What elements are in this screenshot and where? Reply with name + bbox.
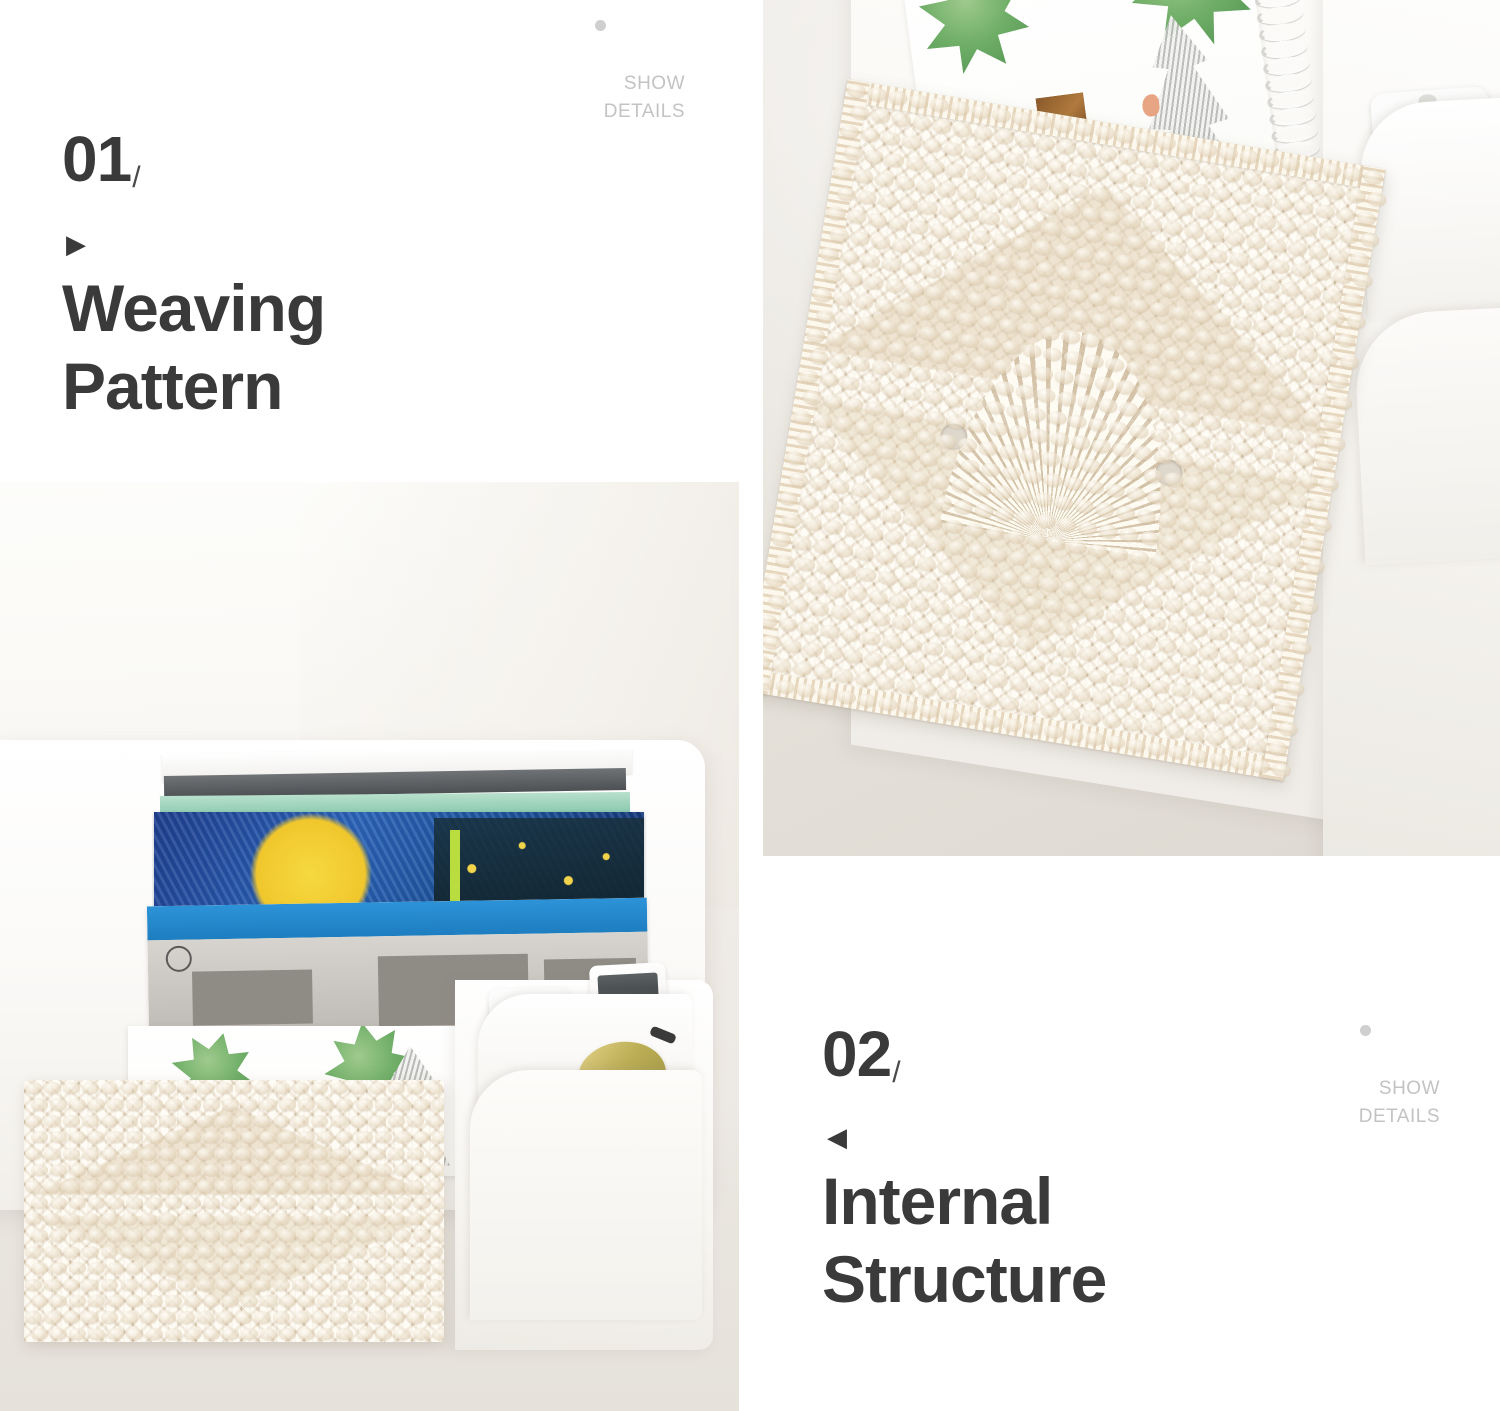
macrame-knot [50, 1197, 67, 1209]
macrame-knot [222, 1197, 239, 1209]
macrame-knot [350, 1279, 367, 1291]
macrame-knot [413, 1328, 430, 1340]
weaving-pattern-photo [763, 0, 1500, 856]
macrame-knot [394, 1164, 411, 1176]
macrame-knot [407, 1311, 424, 1323]
macrame-knot [388, 1279, 405, 1291]
macrame-knot [121, 1115, 138, 1127]
macrame-knot [235, 1180, 252, 1192]
macrame-knot [279, 1229, 296, 1241]
section-02-title: Internal Structure [822, 1163, 1342, 1319]
macrame-knot [82, 1311, 99, 1323]
macrame-knot [407, 1246, 424, 1258]
macrame-knot [203, 1164, 220, 1176]
macrame-knot [331, 1148, 348, 1160]
macrame-knot [69, 1197, 86, 1209]
macrame-knot [101, 1279, 118, 1291]
macrame-knot [298, 1229, 315, 1241]
macrame-knot [331, 1213, 348, 1225]
macrame-knot [216, 1246, 233, 1258]
macrame-knot [222, 1328, 239, 1340]
macrame-knot [197, 1115, 214, 1127]
macrame-knot [356, 1197, 373, 1209]
macrame-knot [184, 1164, 201, 1176]
macrame-knot [216, 1148, 233, 1160]
macrame-knot [413, 1197, 430, 1209]
macrame-knot [101, 1311, 118, 1323]
macrame-knot [356, 1328, 373, 1340]
macrame-knot [279, 1098, 296, 1110]
macrame-knot [388, 1246, 405, 1258]
macrame-knot [159, 1082, 176, 1094]
macrame-knot [44, 1180, 61, 1192]
macrame-knot [126, 1098, 143, 1110]
macrame-knot [101, 1148, 118, 1160]
macrame-knot [222, 1164, 239, 1176]
macrame-knot [394, 1328, 411, 1340]
show-details-dot-icon-01 [595, 20, 606, 31]
macrame-knot [356, 1164, 373, 1176]
macrame-knot [254, 1279, 271, 1291]
macrame-knot [331, 1246, 348, 1258]
macrame-knot [146, 1229, 163, 1241]
macrame-knot [25, 1115, 42, 1127]
macrame-knot [82, 1180, 99, 1192]
macrame-knot [432, 1197, 444, 1209]
macrame-knot [356, 1295, 373, 1307]
macrame-knot [369, 1082, 386, 1094]
macrame-knot [375, 1164, 392, 1176]
macrame-knot [25, 1246, 42, 1258]
macrame-knot [31, 1197, 48, 1209]
macrame-knot [356, 1131, 373, 1143]
section-01-separator: / [132, 161, 139, 194]
macrame-knot [273, 1180, 290, 1192]
macrame-knot [235, 1115, 252, 1127]
macrame-knot [413, 1164, 430, 1176]
book-spine-accent [450, 830, 460, 906]
macrame-knot [254, 1148, 271, 1160]
show-details-line2-02: DETAILS [1225, 1103, 1440, 1131]
macrame-knot [44, 1115, 61, 1127]
show-details-dot-icon-02 [1360, 1025, 1371, 1036]
macrame-knot [241, 1295, 258, 1307]
infographic-page: 01/ ▶ Weaving Pattern SHOW DETAILS 02/ ◀… [0, 0, 1500, 1411]
macrame-knot [69, 1098, 86, 1110]
macrame-knot [273, 1148, 290, 1160]
macrame-knot [375, 1328, 392, 1340]
macrame-knot [331, 1279, 348, 1291]
book-cover-art [434, 818, 644, 910]
macrame-knot [331, 1180, 348, 1192]
macrame-knot [184, 1197, 201, 1209]
macrame-knot [426, 1148, 443, 1160]
macrame-knot [146, 1262, 163, 1274]
macrame-knot [298, 1328, 315, 1340]
macrame-knot [273, 1311, 290, 1323]
macrame-knot [178, 1148, 195, 1160]
macrame-knot [178, 1082, 195, 1094]
macrame-knot [88, 1229, 105, 1241]
macrame-knot [25, 1148, 42, 1160]
section-02-title-line1: Internal [822, 1163, 1342, 1241]
macrame-knot [350, 1213, 367, 1225]
macrame-knot [31, 1098, 48, 1110]
macrame-knot [369, 1279, 386, 1291]
macrame-knot [292, 1180, 309, 1192]
macrame-knot [222, 1229, 239, 1241]
macrame-knot [63, 1311, 80, 1323]
macrame-knot [254, 1311, 271, 1323]
section-01-title: Weaving Pattern [62, 270, 482, 426]
macrame-knot [298, 1098, 315, 1110]
macrame-knot [146, 1164, 163, 1176]
macrame-knot [121, 1180, 138, 1192]
macrame-knot [63, 1180, 80, 1192]
macrame-knot [254, 1246, 271, 1258]
macrame-knot [165, 1197, 182, 1209]
macrame-knot [375, 1098, 392, 1110]
macrame-knot [140, 1148, 157, 1160]
macrame-knot [159, 1279, 176, 1291]
macrame-knot [375, 1197, 392, 1209]
macrame-knot [88, 1098, 105, 1110]
macrame-knot [350, 1115, 367, 1127]
macrame-knot [159, 1180, 176, 1192]
section-02-number-value: 02 [822, 1018, 891, 1090]
macrame-knot [146, 1328, 163, 1340]
macrame-knot [292, 1311, 309, 1323]
internal-structure-photo: GREE [0, 482, 739, 1411]
macrame-knot [298, 1197, 315, 1209]
macrame-knot [407, 1180, 424, 1192]
macrame-knot [369, 1180, 386, 1192]
macrame-knot [369, 1246, 386, 1258]
show-details-line1-01: SHOW [470, 70, 685, 98]
macrame-knot [178, 1246, 195, 1258]
macrame-knot [388, 1115, 405, 1127]
macrame-knot [88, 1197, 105, 1209]
macrame-knot [140, 1180, 157, 1192]
macrame-knot [88, 1328, 105, 1340]
macrame-knot [222, 1295, 239, 1307]
macrame-knot [413, 1295, 430, 1307]
macrame-knot [292, 1148, 309, 1160]
macrame-knot [311, 1279, 328, 1291]
macrame-knot [394, 1229, 411, 1241]
macrame-knot [31, 1229, 48, 1241]
macrame-knot [292, 1279, 309, 1291]
maple-leaf-icon [908, 0, 1039, 84]
show-details-label-01[interactable]: SHOW DETAILS [470, 70, 685, 125]
macrame-knot [235, 1279, 252, 1291]
macrame-knot [25, 1279, 42, 1291]
macrame-knot [388, 1082, 405, 1094]
blue-art-book [154, 812, 644, 912]
section-01-title-line1: Weaving [62, 270, 482, 348]
macrame-knot [394, 1098, 411, 1110]
macrame-knot [311, 1148, 328, 1160]
macrame-knot [146, 1131, 163, 1143]
macrame-knot [203, 1295, 220, 1307]
macrame-knot [331, 1311, 348, 1323]
macrame-knot [216, 1279, 233, 1291]
macrame-knot [203, 1229, 220, 1241]
macrame-knot [50, 1328, 67, 1340]
macrame-knot [432, 1328, 444, 1340]
macrame-knot [31, 1328, 48, 1340]
macrame-knot [216, 1115, 233, 1127]
macrame-knot [254, 1180, 271, 1192]
macrame-knot [432, 1164, 444, 1176]
macrame-knot [426, 1180, 443, 1192]
macrame-knot [197, 1180, 214, 1192]
macrame-knot [375, 1295, 392, 1307]
macrame-knot [356, 1229, 373, 1241]
macrame-knot [203, 1098, 220, 1110]
macrame-knot [222, 1098, 239, 1110]
macrame-knot [413, 1229, 430, 1241]
macrame-knot [216, 1180, 233, 1192]
macrame-knot [426, 1246, 443, 1258]
macrame-knot [82, 1148, 99, 1160]
macrame-knot [216, 1311, 233, 1323]
macrame-knot [426, 1311, 443, 1323]
macrame-knot [331, 1115, 348, 1127]
macrame-knot [407, 1115, 424, 1127]
show-details-line2-01: DETAILS [470, 98, 685, 126]
macrame-knot [184, 1295, 201, 1307]
macrame-knot [407, 1279, 424, 1291]
macrame-knot [159, 1148, 176, 1160]
macrame-knot [44, 1148, 61, 1160]
macrame-knot [50, 1229, 67, 1241]
macrame-knot [165, 1164, 182, 1176]
macrame-knot [317, 1098, 334, 1110]
macrame-knot [394, 1197, 411, 1209]
macrame-knot [146, 1295, 163, 1307]
macrame-knot [101, 1180, 118, 1192]
macrame-knot [311, 1180, 328, 1192]
macrame-knot [426, 1115, 443, 1127]
magazine-shelf [192, 970, 313, 1026]
macrame-knot [178, 1213, 195, 1225]
macrame-knot [121, 1148, 138, 1160]
macrame-knot [146, 1197, 163, 1209]
macrame-knot [184, 1229, 201, 1241]
macrame-knot [331, 1082, 348, 1094]
macrame-knot [140, 1213, 157, 1225]
macrame-knot [121, 1279, 138, 1291]
macrame-knot [336, 1098, 353, 1110]
show-details-line1-02: SHOW [1225, 1075, 1440, 1103]
section-01-number-value: 01 [62, 123, 131, 195]
macrame-knot [140, 1246, 157, 1258]
macrame-knot [413, 1098, 430, 1110]
macrame-knot [140, 1311, 157, 1323]
macrame-knot [356, 1098, 373, 1110]
macrame-knot [44, 1246, 61, 1258]
macrame-knot [69, 1328, 86, 1340]
macrame-knot [63, 1148, 80, 1160]
macrame-knot [375, 1229, 392, 1241]
macrame-knot [260, 1328, 277, 1340]
macrame-knot [197, 1311, 214, 1323]
macrame-knot [178, 1180, 195, 1192]
macrame-knot [178, 1279, 195, 1291]
macrame-knot [197, 1148, 214, 1160]
macrame-knot [235, 1311, 252, 1323]
macrame-knot [159, 1246, 176, 1258]
macrame-woven-panel [763, 79, 1385, 780]
macrame-knot [241, 1229, 258, 1241]
lower-side-pocket [1353, 305, 1500, 566]
section-02-number: 02/ [822, 1022, 900, 1088]
macrame-knot [63, 1279, 80, 1291]
macrame-knot [146, 1098, 163, 1110]
macrame-knot [25, 1180, 42, 1192]
lower-side-pocket [470, 1070, 702, 1320]
macrame-knot [394, 1295, 411, 1307]
macrame-knot [44, 1311, 61, 1323]
macrame-knot [241, 1328, 258, 1340]
macrame-knot [311, 1311, 328, 1323]
macrame-knot [165, 1295, 182, 1307]
macrame-knot [140, 1279, 157, 1291]
macrame-knot [235, 1246, 252, 1258]
macrame-knot [121, 1311, 138, 1323]
macrame-knot [336, 1229, 353, 1241]
macrame-woven-panel [24, 1080, 444, 1342]
macrame-knot [107, 1098, 124, 1110]
macrame-knot [50, 1098, 67, 1110]
macrame-knot [121, 1082, 138, 1094]
macrame-knot [203, 1328, 220, 1340]
macrame-knot [388, 1180, 405, 1192]
macrame-knot [241, 1098, 258, 1110]
macrame-knot [121, 1246, 138, 1258]
macrame-knot [388, 1213, 405, 1225]
macrame-knot [279, 1328, 296, 1340]
macrame-knot [260, 1229, 277, 1241]
macrame-knot [356, 1262, 373, 1274]
macrame-knot [107, 1229, 124, 1241]
macrame-knot [432, 1098, 444, 1110]
macrame-knot [203, 1197, 220, 1209]
macrame-knot [184, 1098, 201, 1110]
macrame-knot [197, 1279, 214, 1291]
macrame-knot [25, 1311, 42, 1323]
macrame-knot [165, 1229, 182, 1241]
macrame-knot [82, 1279, 99, 1291]
show-details-label-02[interactable]: SHOW DETAILS [1225, 1075, 1440, 1130]
macrame-knot [140, 1082, 157, 1094]
macrame-knot [260, 1197, 277, 1209]
macrame-knot [31, 1295, 48, 1307]
macrame-knot [350, 1148, 367, 1160]
macrame-knot [235, 1148, 252, 1160]
macrame-knot [178, 1115, 195, 1127]
macrame-knot [369, 1148, 386, 1160]
macrame-knot [369, 1311, 386, 1323]
play-left-arrow-icon: ◀ [827, 1124, 847, 1150]
macrame-knot [241, 1164, 258, 1176]
macrame-knot [432, 1295, 444, 1307]
macrame-knot [279, 1197, 296, 1209]
macrame-knot [369, 1213, 386, 1225]
macrame-knot [350, 1246, 367, 1258]
section-01-title-line2: Pattern [62, 348, 482, 426]
macrame-knot [159, 1311, 176, 1323]
macrame-knot [350, 1082, 367, 1094]
section-02-title-line2: Structure [822, 1241, 1342, 1319]
macrame-knot [159, 1115, 176, 1127]
macrame-knot [317, 1229, 334, 1241]
play-right-arrow-icon: ▶ [66, 231, 86, 257]
macrame-knot [407, 1148, 424, 1160]
macrame-knot [126, 1229, 143, 1241]
macrame-knot [388, 1311, 405, 1323]
macrame-knot [140, 1115, 157, 1127]
macrame-knot [260, 1098, 277, 1110]
macrame-knot [388, 1148, 405, 1160]
macrame-knot [165, 1098, 182, 1110]
macrame-knot [273, 1279, 290, 1291]
macrame-knot [432, 1229, 444, 1241]
section-01-number: 01/ [62, 127, 140, 193]
macrame-knot [426, 1279, 443, 1291]
macrame-knot [197, 1246, 214, 1258]
macrame-knot [350, 1311, 367, 1323]
macrame-knot [254, 1115, 271, 1127]
macrame-knot [369, 1115, 386, 1127]
macrame-knot [241, 1197, 258, 1209]
macrame-knot [159, 1213, 176, 1225]
macrame-knot [165, 1328, 182, 1340]
macrame-knot [69, 1229, 86, 1241]
macrame-knot [44, 1279, 61, 1291]
macrame-knot [121, 1213, 138, 1225]
macrame-knot [31, 1164, 48, 1176]
macrame-knot [178, 1311, 195, 1323]
macrame-knot [184, 1328, 201, 1340]
macrame-knot [350, 1180, 367, 1192]
section-02-separator: / [892, 1056, 899, 1089]
